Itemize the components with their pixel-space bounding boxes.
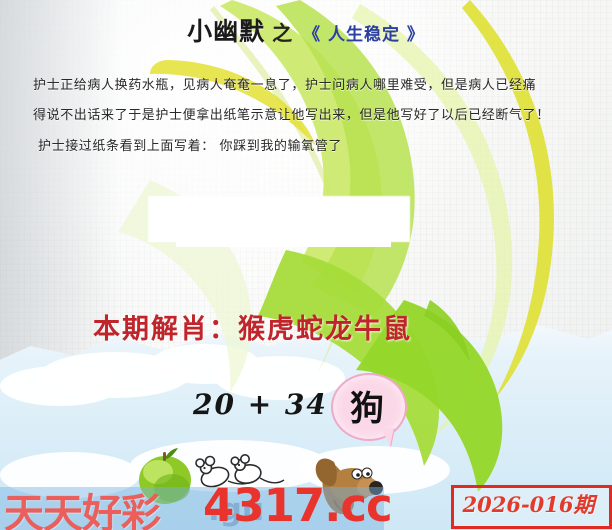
watermark-domain-text: 4317.cc xyxy=(203,479,392,530)
watermark-brand-text: 天天好彩 xyxy=(4,481,160,530)
issue-number-text: 2026-016期 xyxy=(451,485,606,523)
lottery-poster: 小幽默之《 人生稳定 》 护士正给病人换药水瓶，见病人奄奄一息了，护士问病人哪里… xyxy=(0,0,612,530)
bottom-illustrations xyxy=(0,0,612,530)
